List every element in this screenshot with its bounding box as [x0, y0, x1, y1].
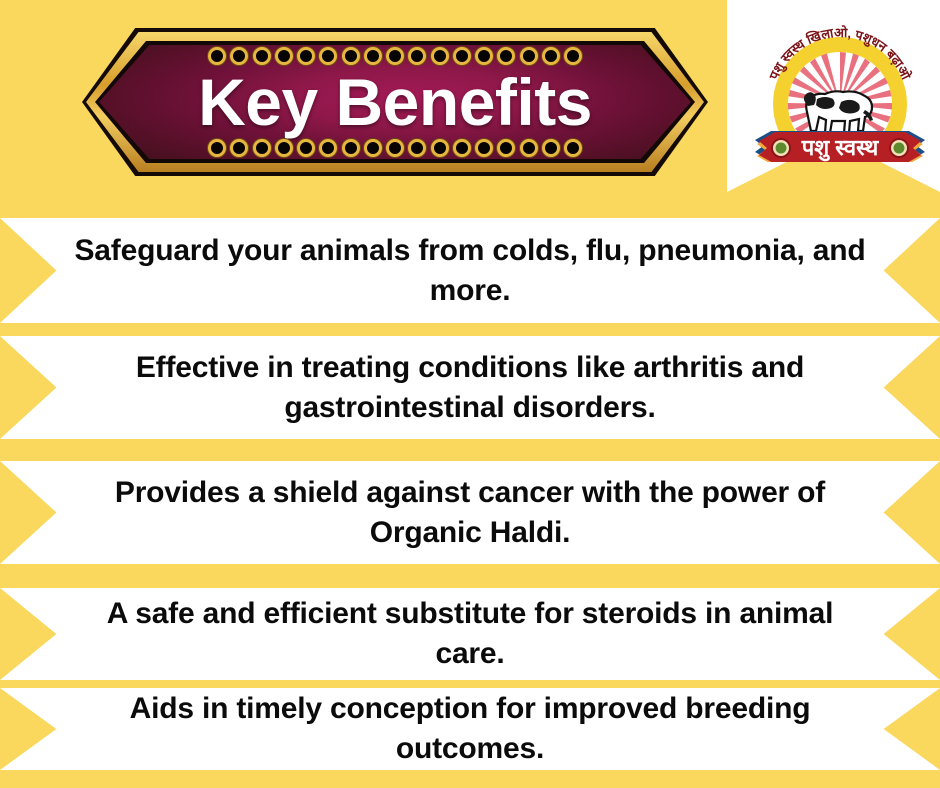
bead-icon	[230, 47, 248, 65]
bead-icon	[497, 47, 515, 65]
bead-icon	[453, 139, 471, 157]
bead-icon	[275, 139, 293, 157]
bead-chain-top	[208, 46, 582, 66]
poster-header: Key Benefits	[0, 0, 940, 200]
benefit-banner: A safe and efficient substitute for ster…	[0, 588, 940, 680]
bead-icon	[319, 139, 337, 157]
bead-icon	[564, 47, 582, 65]
benefit-banner: Aids in timely conception for improved b…	[0, 688, 940, 770]
bead-icon	[475, 139, 493, 157]
bead-icon	[364, 139, 382, 157]
bead-icon	[364, 47, 382, 65]
key-benefits-poster: Key Benefits	[0, 0, 940, 788]
bead-icon	[520, 139, 538, 157]
benefit-text: Aids in timely conception for improved b…	[70, 689, 870, 768]
benefit-text: Effective in treating conditions like ar…	[70, 348, 870, 427]
bead-icon	[342, 139, 360, 157]
benefit-banner: Provides a shield against cancer with th…	[0, 461, 940, 564]
bead-icon	[497, 139, 515, 157]
logo-ribbon-text: पशु स्वस्थ	[801, 135, 879, 162]
bead-icon	[408, 47, 426, 65]
bead-icon	[386, 139, 404, 157]
bead-icon	[275, 47, 293, 65]
bead-icon	[542, 139, 560, 157]
benefit-banner: Safeguard your animals from colds, flu, …	[0, 218, 940, 323]
benefit-text: A safe and efficient substitute for ster…	[70, 594, 870, 673]
bead-icon	[386, 47, 404, 65]
bead-icon	[297, 47, 315, 65]
benefit-text: Provides a shield against cancer with th…	[70, 473, 870, 552]
bead-icon	[453, 47, 471, 65]
bead-chain-bottom	[208, 138, 582, 158]
pashu-swasth-logo: पशु स्वस्थ खिलाओ, पशुधन बढ़ाओ	[745, 4, 935, 162]
logo-ribbon: पशु स्वस्थ	[755, 131, 925, 162]
benefit-banner: Effective in treating conditions like ar…	[0, 336, 940, 439]
benefit-text: Safeguard your animals from colds, flu, …	[70, 231, 870, 310]
bead-icon	[408, 139, 426, 157]
bead-icon	[208, 47, 226, 65]
title-plaque: Key Benefits	[82, 28, 708, 176]
bead-icon	[297, 139, 315, 157]
bead-icon	[230, 139, 248, 157]
bead-icon	[431, 47, 449, 65]
bead-icon	[253, 47, 271, 65]
bead-icon	[208, 139, 226, 157]
bead-icon	[342, 47, 360, 65]
bead-icon	[253, 139, 271, 157]
bead-icon	[520, 47, 538, 65]
bead-icon	[564, 139, 582, 157]
bead-icon	[542, 47, 560, 65]
bead-icon	[319, 47, 337, 65]
bead-icon	[475, 47, 493, 65]
bead-icon	[431, 139, 449, 157]
